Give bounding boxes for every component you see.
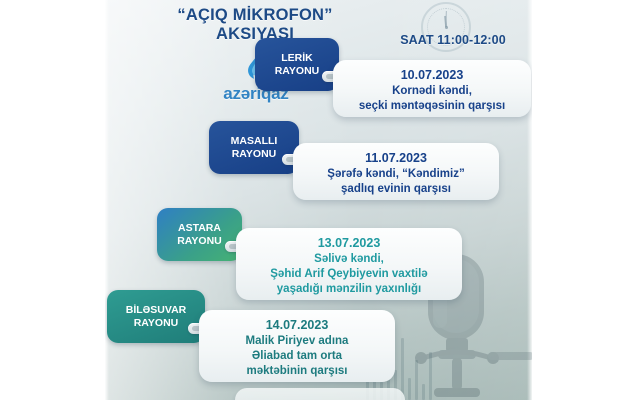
district-badge-name: MASALLI: [231, 135, 278, 148]
event-location-line3: məktəbinin qarşısı: [209, 364, 385, 379]
poster-left-edge: [105, 0, 109, 400]
district-badge-sub: RAYONU: [231, 148, 278, 161]
district-badge-sub: RAYONU: [177, 235, 222, 248]
district-badge-lerik[interactable]: LERİK RAYONU: [255, 38, 339, 91]
event-date: 11.07.2023: [303, 150, 489, 166]
event-location-line1: Səlivə kəndi,: [246, 252, 452, 267]
event-card-masalli[interactable]: 11.07.2023 Şərəfə kəndi, “Kəndimiz” şadl…: [293, 143, 499, 200]
event-location-line3: yaşadığı mənzilin yaxınlığı: [246, 282, 452, 297]
poster-canvas: “AÇIQ MİKROFON” AKSIYASI azəriqaz SAAT 1…: [0, 0, 637, 400]
event-date: 10.07.2023: [343, 67, 521, 83]
event-card-bilesuvar[interactable]: 14.07.2023 Malik Piriyev adına Əliabad t…: [199, 310, 395, 382]
event-location-line2: seçki məntəqəsinin qarşısı: [343, 99, 521, 114]
time-label: SAAT 11:00-12:00: [373, 33, 532, 47]
district-badge-bilesuvar[interactable]: BİLƏSUVAR RAYONU: [107, 290, 205, 343]
district-badge-astara[interactable]: ASTARA RAYONU: [157, 208, 242, 261]
event-card-lerik[interactable]: 10.07.2023 Kornədi kəndi, seçki məntəqəs…: [333, 60, 531, 117]
event-card-next-partial[interactable]: [235, 388, 405, 400]
district-badge-sub: RAYONU: [126, 317, 187, 330]
poster-body: “AÇIQ MİKROFON” AKSIYASI azəriqaz SAAT 1…: [105, 0, 532, 400]
event-date: 14.07.2023: [209, 317, 385, 333]
poster-title-line1: “AÇIQ MİKROFON”: [177, 6, 332, 24]
event-location-line2: Əliabad tam orta: [209, 349, 385, 364]
district-badge-masalli[interactable]: MASALLI RAYONU: [209, 121, 299, 174]
event-location-line1: Şərəfə kəndi, “Kəndimiz”: [303, 167, 489, 182]
event-location-line2: şadlıq evinin qarşısı: [303, 182, 489, 197]
poster-title-line2: AKSIYASI: [105, 25, 405, 44]
event-location-line1: Kornədi kəndi,: [343, 84, 521, 99]
event-location-line2: Şəhid Arif Qeybiyevin vaxtilə: [246, 267, 452, 282]
district-badge-name: BİLƏSUVAR: [126, 304, 187, 317]
poster-title: “AÇIQ MİKROFON” AKSIYASI: [105, 6, 405, 44]
event-location-line1: Malik Piriyev adına: [209, 334, 385, 349]
event-card-astara[interactable]: 13.07.2023 Səlivə kəndi, Şəhid Arif Qeyb…: [236, 228, 462, 300]
event-date: 13.07.2023: [246, 235, 452, 251]
district-badge-name: ASTARA: [177, 222, 222, 235]
district-badge-name: LERİK: [275, 52, 320, 65]
district-badge-sub: RAYONU: [275, 65, 320, 78]
